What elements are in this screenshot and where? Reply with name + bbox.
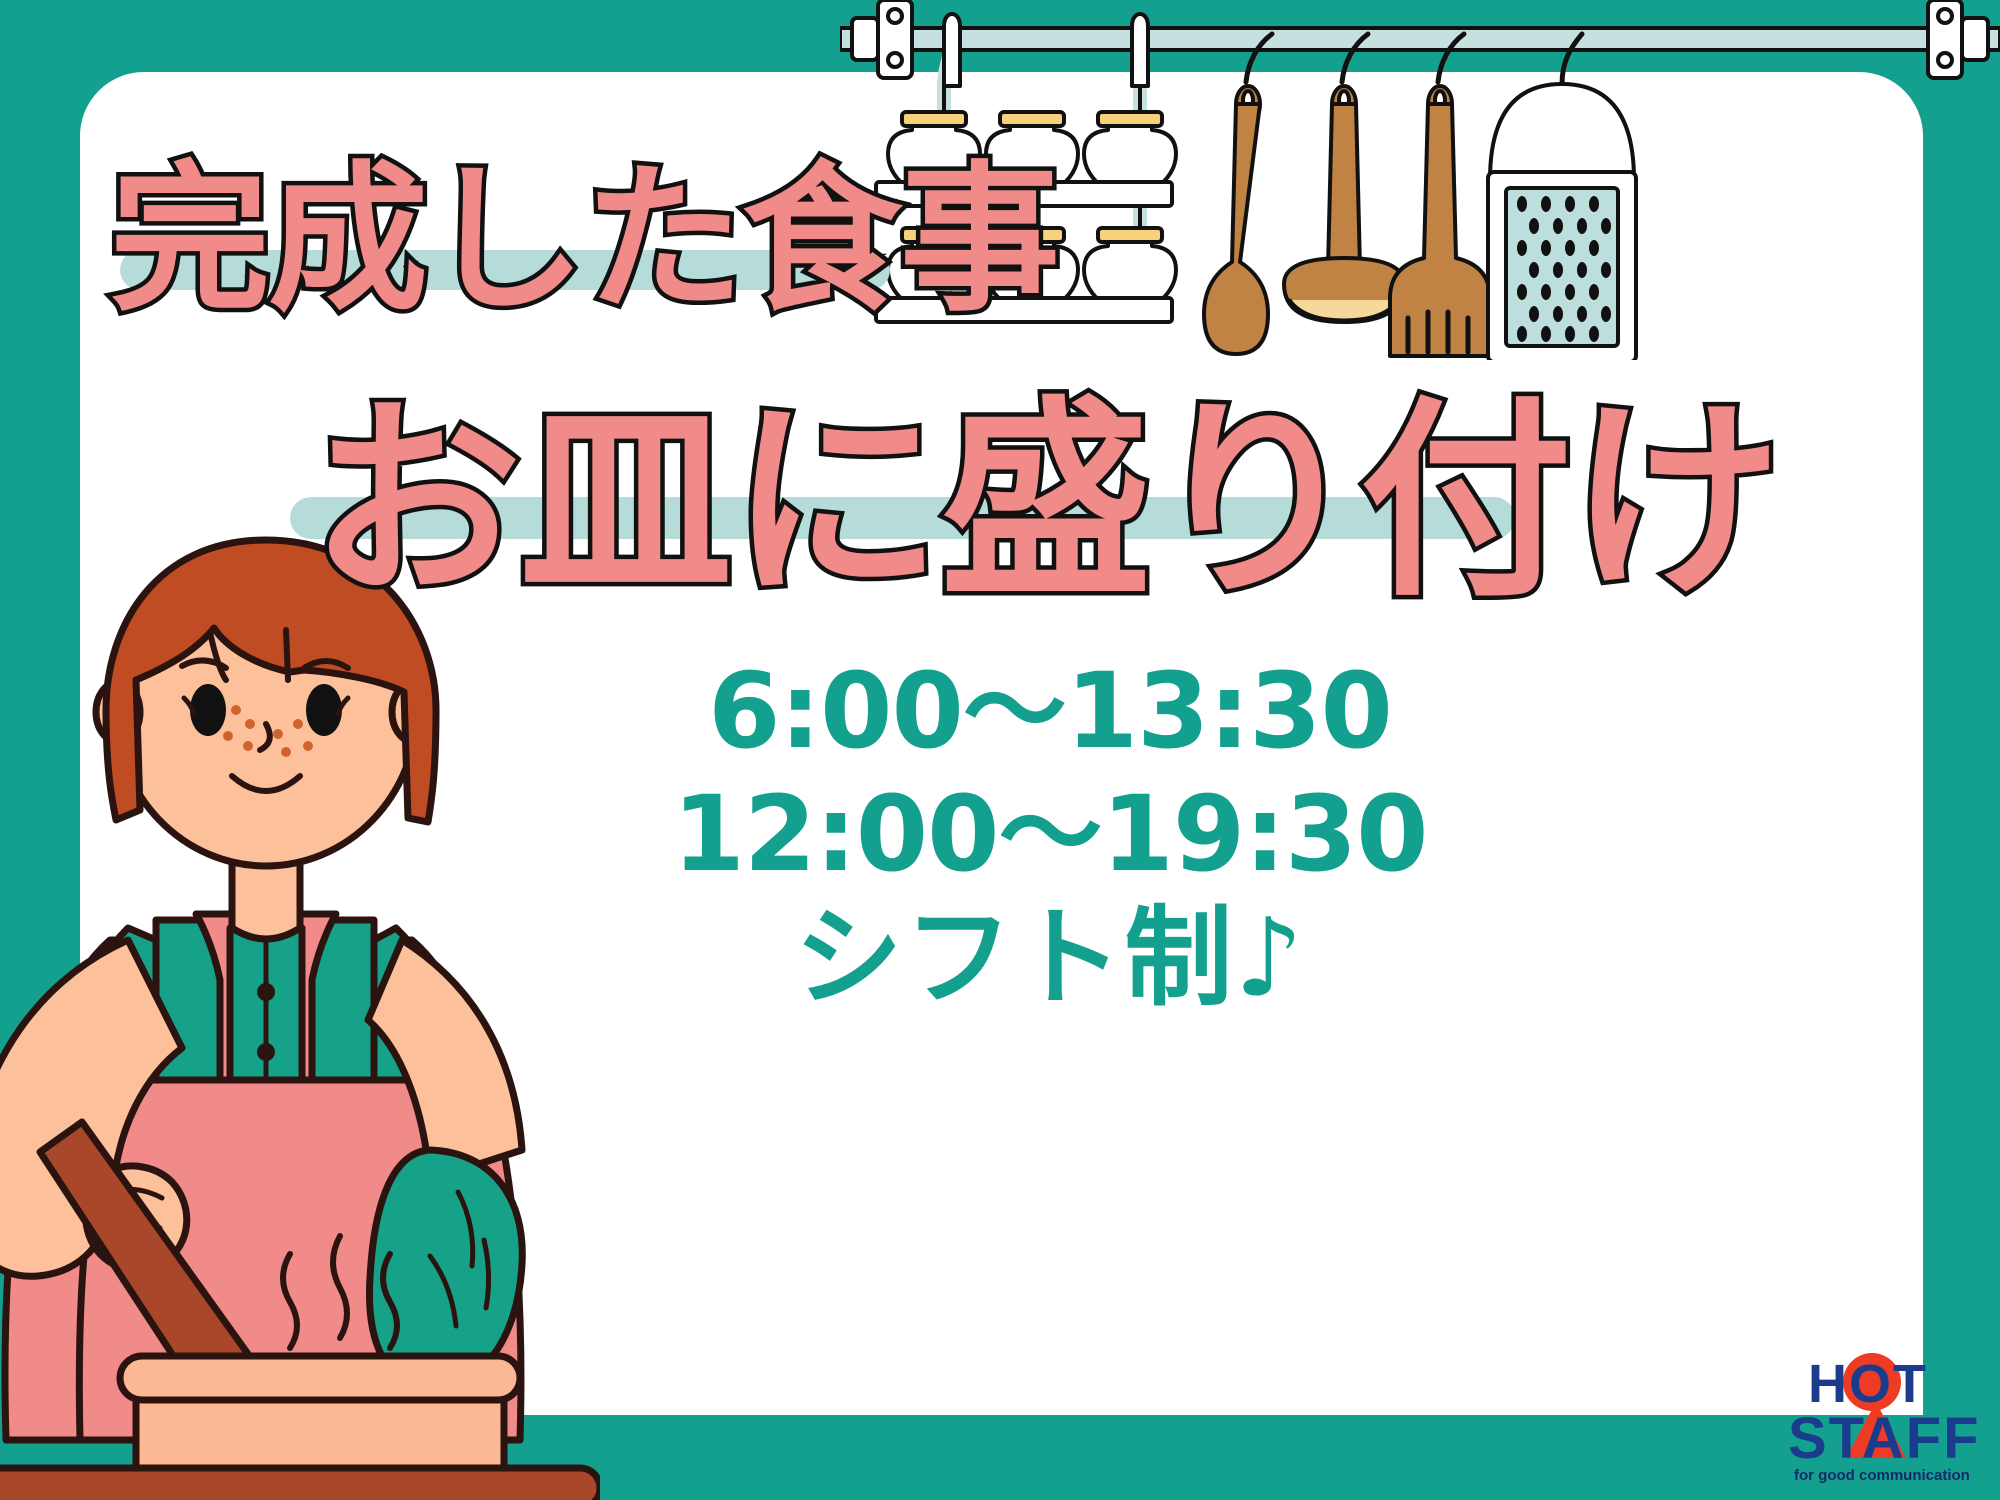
- poster-root: 完成した食事 お皿に盛り付け 6:00〜13:30 12:00〜19:30 シフ…: [0, 0, 2000, 1500]
- kitchen-utensil-rail: [840, 0, 2000, 360]
- shift-time-1: 6:00〜13:30: [660, 650, 1440, 773]
- shift-system-note: シフト制♪: [660, 895, 1440, 1022]
- box-grater: [1488, 34, 1636, 360]
- hot-staff-logo: HOT STAFF for good communication: [1780, 1340, 1980, 1490]
- wooden-ladle: [1284, 34, 1404, 322]
- logo-word-top: HOT: [1808, 1354, 1928, 1414]
- wooden-spoon: [1204, 34, 1272, 354]
- woman-cooking-illustration: [0, 380, 600, 1500]
- logo-word-bottom: STAFF: [1788, 1406, 1980, 1471]
- working-hours-block: 6:00〜13:30 12:00〜19:30 シフト制♪: [660, 650, 1440, 1023]
- wooden-spatula: [1390, 34, 1490, 356]
- spice-jar-row-top: [888, 112, 1176, 190]
- rail-bracket-left: [852, 0, 912, 78]
- shift-time-2: 12:00〜19:30: [660, 773, 1440, 896]
- spice-jar-row-bottom: [888, 228, 1176, 306]
- rail-bracket-right: [1928, 0, 1988, 78]
- logo-tagline: for good communication: [1794, 1467, 1970, 1484]
